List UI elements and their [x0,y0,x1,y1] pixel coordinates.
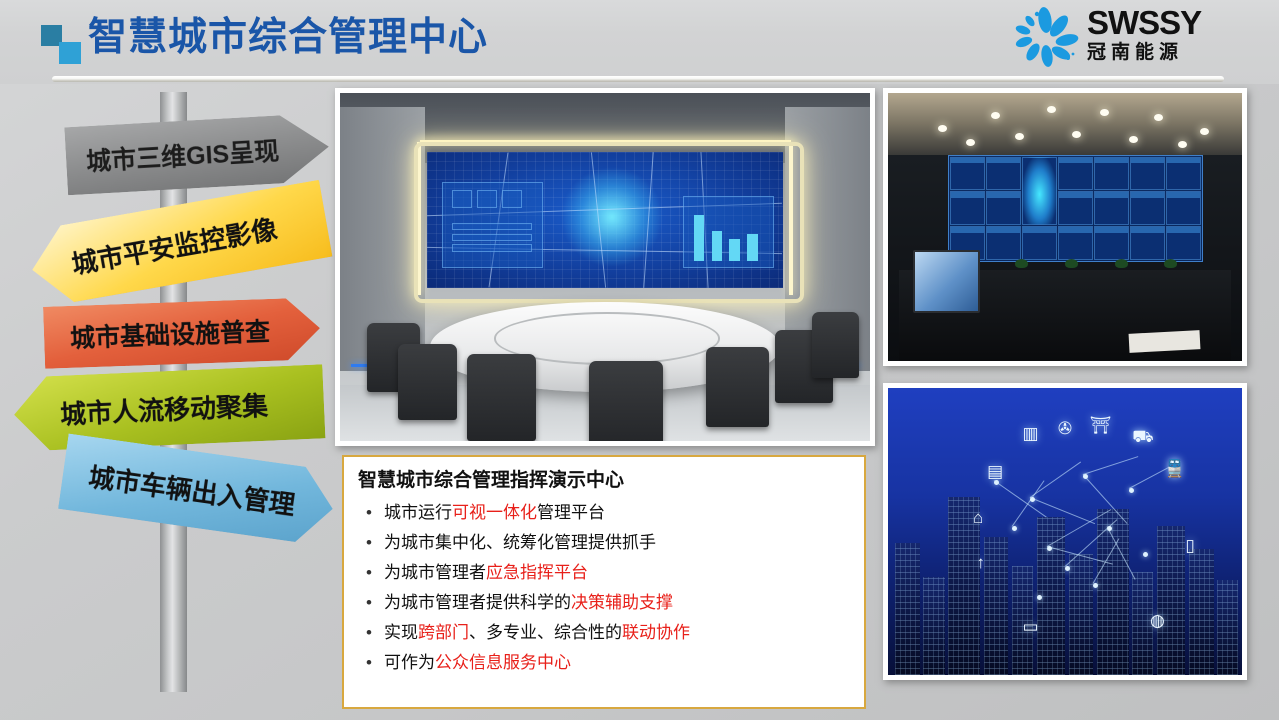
highlighted-text: 公众信息服务中心 [435,653,571,672]
photo-command-center-round-table [335,88,875,446]
photo-monitoring-room-video-wall [883,88,1247,366]
bullet-icon: • [366,618,372,648]
list-item-text: 为城市管理者提供科学的 [384,593,571,612]
brand-logo: SWSSY 冠南能源 [1011,4,1261,76]
bullet-icon: • [366,648,372,678]
list-item: •可作为公众信息服务中心 [358,648,850,678]
page-title: 智慧城市综合管理中心 [88,10,488,66]
screen-icon: ▭ [1023,618,1039,635]
list-item-text: 可作为 [384,653,435,672]
bullet-icon: • [366,498,372,528]
list-item-text: 、多专业、综合性的 [469,623,622,642]
highlighted-text: 应急指挥平台 [486,563,588,582]
list-item-text: 城市运行 [384,503,452,522]
car-icon: ⛟ [1132,428,1153,445]
satellite-icon: ✇ [1058,420,1072,437]
antenna-icon: ↑ [977,554,986,571]
header-square-light-icon [59,42,81,64]
photo-smart-city-iot-network: ▥ ✇ ⛩ ⛟ 🚆 ⌂ ↑ ▤ ▯ ▭ ◍ [883,383,1247,680]
list-item-text: 为城市集中化、统筹化管理提供抓手 [384,533,656,552]
sign-label: 城市平安监控影像 [68,209,279,282]
page-header: 智慧城市综合管理中心 SWSSY 冠南能源 [0,0,1279,84]
sign-city-vehicle-access[interactable]: 城市车辆出入管理 [58,433,338,546]
header-divider [52,76,1224,82]
sign-city-infrastructure-survey[interactable]: 城市基础设施普查 [43,297,321,369]
list-item: •为城市管理者应急指挥平台 [358,558,850,588]
sign-label: 城市车辆出入管理 [86,456,297,522]
list-item-text: 为城市管理者 [384,563,486,582]
list-item: •城市运行可视一体化管理平台 [358,498,850,528]
list-item: •为城市管理者提供科学的决策辅助支撑 [358,588,850,618]
highlighted-text: 跨部门 [418,623,469,642]
list-item: •实现跨部门、多专业、综合性的联动协作 [358,618,850,648]
sign-city-3d-gis[interactable]: 城市三维GIS呈现 [64,113,330,196]
water-drop-petals-icon [1011,6,1079,72]
bullet-icon: • [366,558,372,588]
tower-icon: ⛩ [1090,417,1112,434]
sign-city-crowd-flow[interactable]: 城市人流移动聚集 [13,364,326,451]
feature-list: •城市运行可视一体化管理平台•为城市集中化、统筹化管理提供抓手•为城市管理者应急… [358,498,850,678]
sign-label: 城市基础设施普查 [69,312,270,355]
device-icon: ▯ [1185,537,1194,554]
list-item: •为城市集中化、统筹化管理提供抓手 [358,528,850,558]
bulb-icon: ◍ [1150,612,1165,629]
train-icon: 🚆 [1164,460,1185,477]
shop-icon: ▤ [987,463,1003,480]
building-icon: ▥ [1023,425,1039,442]
highlighted-text: 决策辅助支撑 [571,593,673,612]
sign-label: 城市三维GIS呈现 [85,131,280,178]
bullet-icon: • [366,588,372,618]
panel-title: 智慧城市综合管理指挥演示中心 [358,466,850,496]
list-item-text: 管理平台 [537,503,605,522]
highlighted-text: 联动协作 [622,623,690,642]
home-icon: ⌂ [973,509,983,526]
sign-label: 城市人流移动聚集 [59,385,268,431]
description-panel: 智慧城市综合管理指挥演示中心 •城市运行可视一体化管理平台•为城市集中化、统筹化… [342,455,866,709]
list-item-text: 实现 [384,623,418,642]
highlighted-text: 可视一体化 [452,503,537,522]
brand-name-cn: 冠南能源 [1087,40,1263,66]
brand-name: SWSSY [1087,6,1263,40]
bullet-icon: • [366,528,372,558]
